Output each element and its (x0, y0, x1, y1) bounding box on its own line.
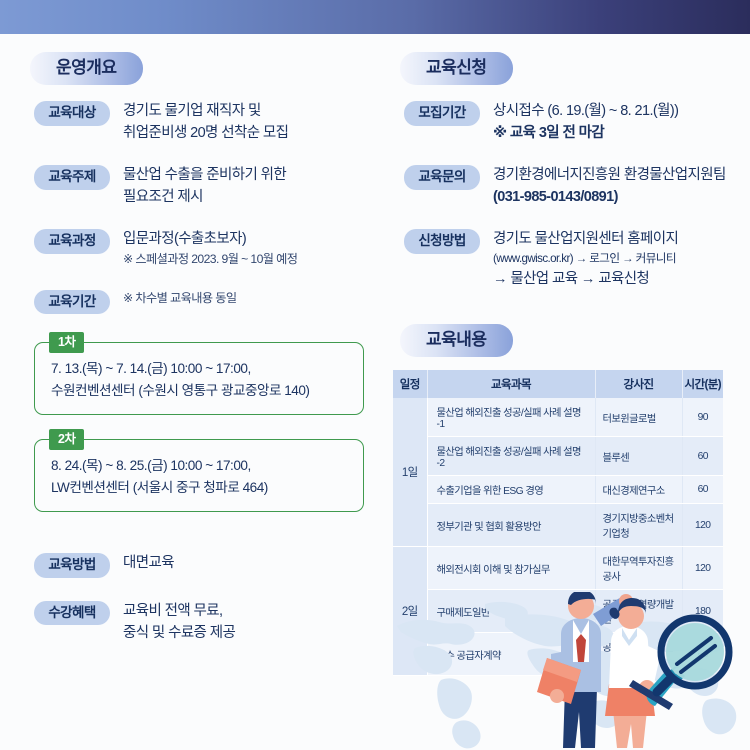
overview-field-list: 교육대상경기도 물기업 재직자 및취업준비생 20명 선착순 모집교육주제물산업… (34, 100, 374, 334)
table-cell-subject: 정부기관 및 협회 활용방안 (427, 504, 595, 547)
table-row: 1일물산업 해외진출 성공/실패 사례 설명 -1터보윈글로벌90 (393, 398, 723, 437)
session-text-line: 7. 13.(목) ~ 7. 14.(금) 10:00 ~ 17:00, (51, 358, 349, 380)
application-field-list: 모집기간상시접수 (6. 19.(월) ~ 8. 21.(월))※ 교육 3일 … (404, 100, 744, 310)
table-cell-minutes: 90 (682, 398, 723, 437)
field-text-line: 상시접수 (6. 19.(월) ~ 8. 21.(월)) (493, 100, 744, 122)
table-row: 2일해외전시회 이해 및 참가실무대한무역투자진흥공사120 (393, 547, 723, 590)
left-column: 운영개요 교육대상경기도 물기업 재직자 및취업준비생 20명 선착순 모집교육… (0, 34, 380, 750)
table-cell-minutes: 120 (682, 547, 723, 590)
field-label-교육과정: 교육과정 (34, 229, 110, 254)
person-woman-illustration (605, 598, 685, 748)
field-text-line: 필요조건 제시 (123, 186, 374, 208)
top-gradient-banner (0, 0, 750, 34)
session-box-list: 1차7. 13.(목) ~ 7. 14.(금) 10:00 ~ 17:00,수원… (34, 342, 364, 536)
field-row-신청방법: 신청방법경기도 물산업지원센터 홈페이지(www.gwisc.or.kr) → … (404, 228, 744, 290)
magnifier-icon (657, 618, 729, 692)
session-badge: 2차 (49, 429, 84, 450)
field-text-line: 교육비 전액 무료, (123, 600, 374, 622)
illustration-people-world-map (385, 592, 750, 750)
field-text-line: 경기환경에너지진흥원 환경물산업지원팀 (493, 164, 744, 186)
field-body: 경기도 물기업 재직자 및취업준비생 20명 선착순 모집 (110, 100, 374, 144)
field-row-교육대상: 교육대상경기도 물기업 재직자 및취업준비생 20명 선착순 모집 (34, 100, 374, 144)
illustration-svg (385, 592, 750, 750)
section-header-application: 교육신청 (400, 52, 513, 85)
field-body: ※ 차수별 교육내용 동일 (110, 289, 374, 308)
field-label-교육주제: 교육주제 (34, 165, 110, 190)
field-text-line: 취업준비생 20명 선착순 모집 (123, 122, 374, 144)
field-body: 교육비 전액 무료,중식 및 수료증 제공 (110, 600, 374, 644)
overview-field-list-after: 교육방법대면교육수강혜택교육비 전액 무료,중식 및 수료증 제공 (34, 552, 374, 666)
field-label-신청방법: 신청방법 (404, 229, 480, 254)
session-text-line: 수원컨벤션센터 (수원시 영통구 광교중앙로 140) (51, 380, 349, 402)
field-label-교육문의: 교육문의 (404, 165, 480, 190)
session-box-2차: 2차8. 24.(목) ~ 8. 25.(금) 10:00 ~ 17:00,LW… (34, 439, 364, 512)
session-badge: 1차 (49, 332, 84, 353)
field-label-모집기간: 모집기간 (404, 101, 480, 126)
field-text-line: 대면교육 (123, 552, 374, 574)
field-text-line: (www.gwisc.or.kr) → 로그인 → 커뮤니티 (493, 250, 744, 268)
table-cell-day: 1일 (393, 398, 427, 547)
field-text-line: ※ 차수별 교육내용 동일 (123, 289, 374, 308)
field-row-교육과정: 교육과정입문과정(수출초보자)※ 스페셜과정 2023. 9월 ~ 10월 예정 (34, 228, 374, 269)
table-row: 수출기업을 위한 ESG 경영대신경제연구소60 (393, 476, 723, 504)
table-column-header: 일정 (393, 370, 427, 398)
field-body: 입문과정(수출초보자)※ 스페셜과정 2023. 9월 ~ 10월 예정 (110, 228, 374, 269)
session-box-1차: 1차7. 13.(목) ~ 7. 14.(금) 10:00 ~ 17:00,수원… (34, 342, 364, 415)
field-text-line: → 물산업 교육 → 교육신청 (493, 268, 744, 290)
table-column-header: 강사진 (595, 370, 682, 398)
field-row-교육주제: 교육주제물산업 수출을 준비하기 위한필요조건 제시 (34, 164, 374, 208)
table-cell-minutes: 60 (682, 476, 723, 504)
field-label-수강혜택: 수강혜택 (34, 601, 110, 626)
field-label-교육기간: 교육기간 (34, 290, 110, 315)
table-cell-minutes: 120 (682, 504, 723, 547)
field-text-line: 경기도 물산업지원센터 홈페이지 (493, 228, 744, 250)
table-cell-lecturer: 터보윈글로벌 (595, 398, 682, 437)
field-body: 경기환경에너지진흥원 환경물산업지원팀(031-985-0143/0891) (480, 164, 744, 208)
table-cell-lecturer: 대한무역투자진흥공사 (595, 547, 682, 590)
table-row: 물산업 해외진출 성공/실패 사례 설명 -2블루센60 (393, 437, 723, 476)
table-column-header: 교육과목 (427, 370, 595, 398)
field-text-line: 중식 및 수료증 제공 (123, 622, 374, 644)
field-body: 대면교육 (110, 552, 374, 574)
field-text-line: 물산업 수출을 준비하기 위한 (123, 164, 374, 186)
field-row-수강혜택: 수강혜택교육비 전액 무료,중식 및 수료증 제공 (34, 600, 374, 644)
field-body: 경기도 물산업지원센터 홈페이지(www.gwisc.or.kr) → 로그인 … (480, 228, 744, 290)
section-header-overview: 운영개요 (30, 52, 143, 85)
field-text-line: (031-985-0143/0891) (493, 186, 744, 208)
field-row-교육문의: 교육문의경기환경에너지진흥원 환경물산업지원팀(031-985-0143/089… (404, 164, 744, 208)
field-row-모집기간: 모집기간상시접수 (6. 19.(월) ~ 8. 21.(월))※ 교육 3일 … (404, 100, 744, 144)
session-text-line: 8. 24.(목) ~ 8. 25.(금) 10:00 ~ 17:00, (51, 455, 349, 477)
table-cell-lecturer: 블루센 (595, 437, 682, 476)
field-text-line: ※ 스페셜과정 2023. 9월 ~ 10월 예정 (123, 250, 374, 269)
field-label-교육대상: 교육대상 (34, 101, 110, 126)
table-cell-lecturer: 경기지방중소벤처기업청 (595, 504, 682, 547)
table-cell-subject: 물산업 해외진출 성공/실패 사례 설명 -2 (427, 437, 595, 476)
table-header-row: 일정교육과목강사진시간(분) (393, 370, 723, 398)
table-cell-lecturer: 대신경제연구소 (595, 476, 682, 504)
session-text-line: LW컨벤션센터 (서울시 중구 청파로 464) (51, 477, 349, 499)
field-text-line: 입문과정(수출초보자) (123, 228, 374, 250)
field-label-교육방법: 교육방법 (34, 553, 110, 578)
table-column-header: 시간(분) (682, 370, 723, 398)
field-body: 물산업 수출을 준비하기 위한필요조건 제시 (110, 164, 374, 208)
table-row: 정부기관 및 협회 활용방안경기지방중소벤처기업청120 (393, 504, 723, 547)
table-cell-subject: 물산업 해외진출 성공/실패 사례 설명 -1 (427, 398, 595, 437)
table-cell-minutes: 60 (682, 437, 723, 476)
field-row-교육방법: 교육방법대면교육 (34, 552, 374, 578)
table-cell-subject: 해외전시회 이해 및 참가실무 (427, 547, 595, 590)
field-text-line: 경기도 물기업 재직자 및 (123, 100, 374, 122)
section-header-curriculum: 교육내용 (400, 324, 513, 357)
curriculum-table-head: 일정교육과목강사진시간(분) (393, 370, 723, 398)
field-text-line: ※ 교육 3일 전 마감 (493, 122, 744, 144)
field-row-교육기간: 교육기간※ 차수별 교육내용 동일 (34, 289, 374, 315)
field-body: 상시접수 (6. 19.(월) ~ 8. 21.(월))※ 교육 3일 전 마감 (480, 100, 744, 144)
table-cell-subject: 수출기업을 위한 ESG 경영 (427, 476, 595, 504)
